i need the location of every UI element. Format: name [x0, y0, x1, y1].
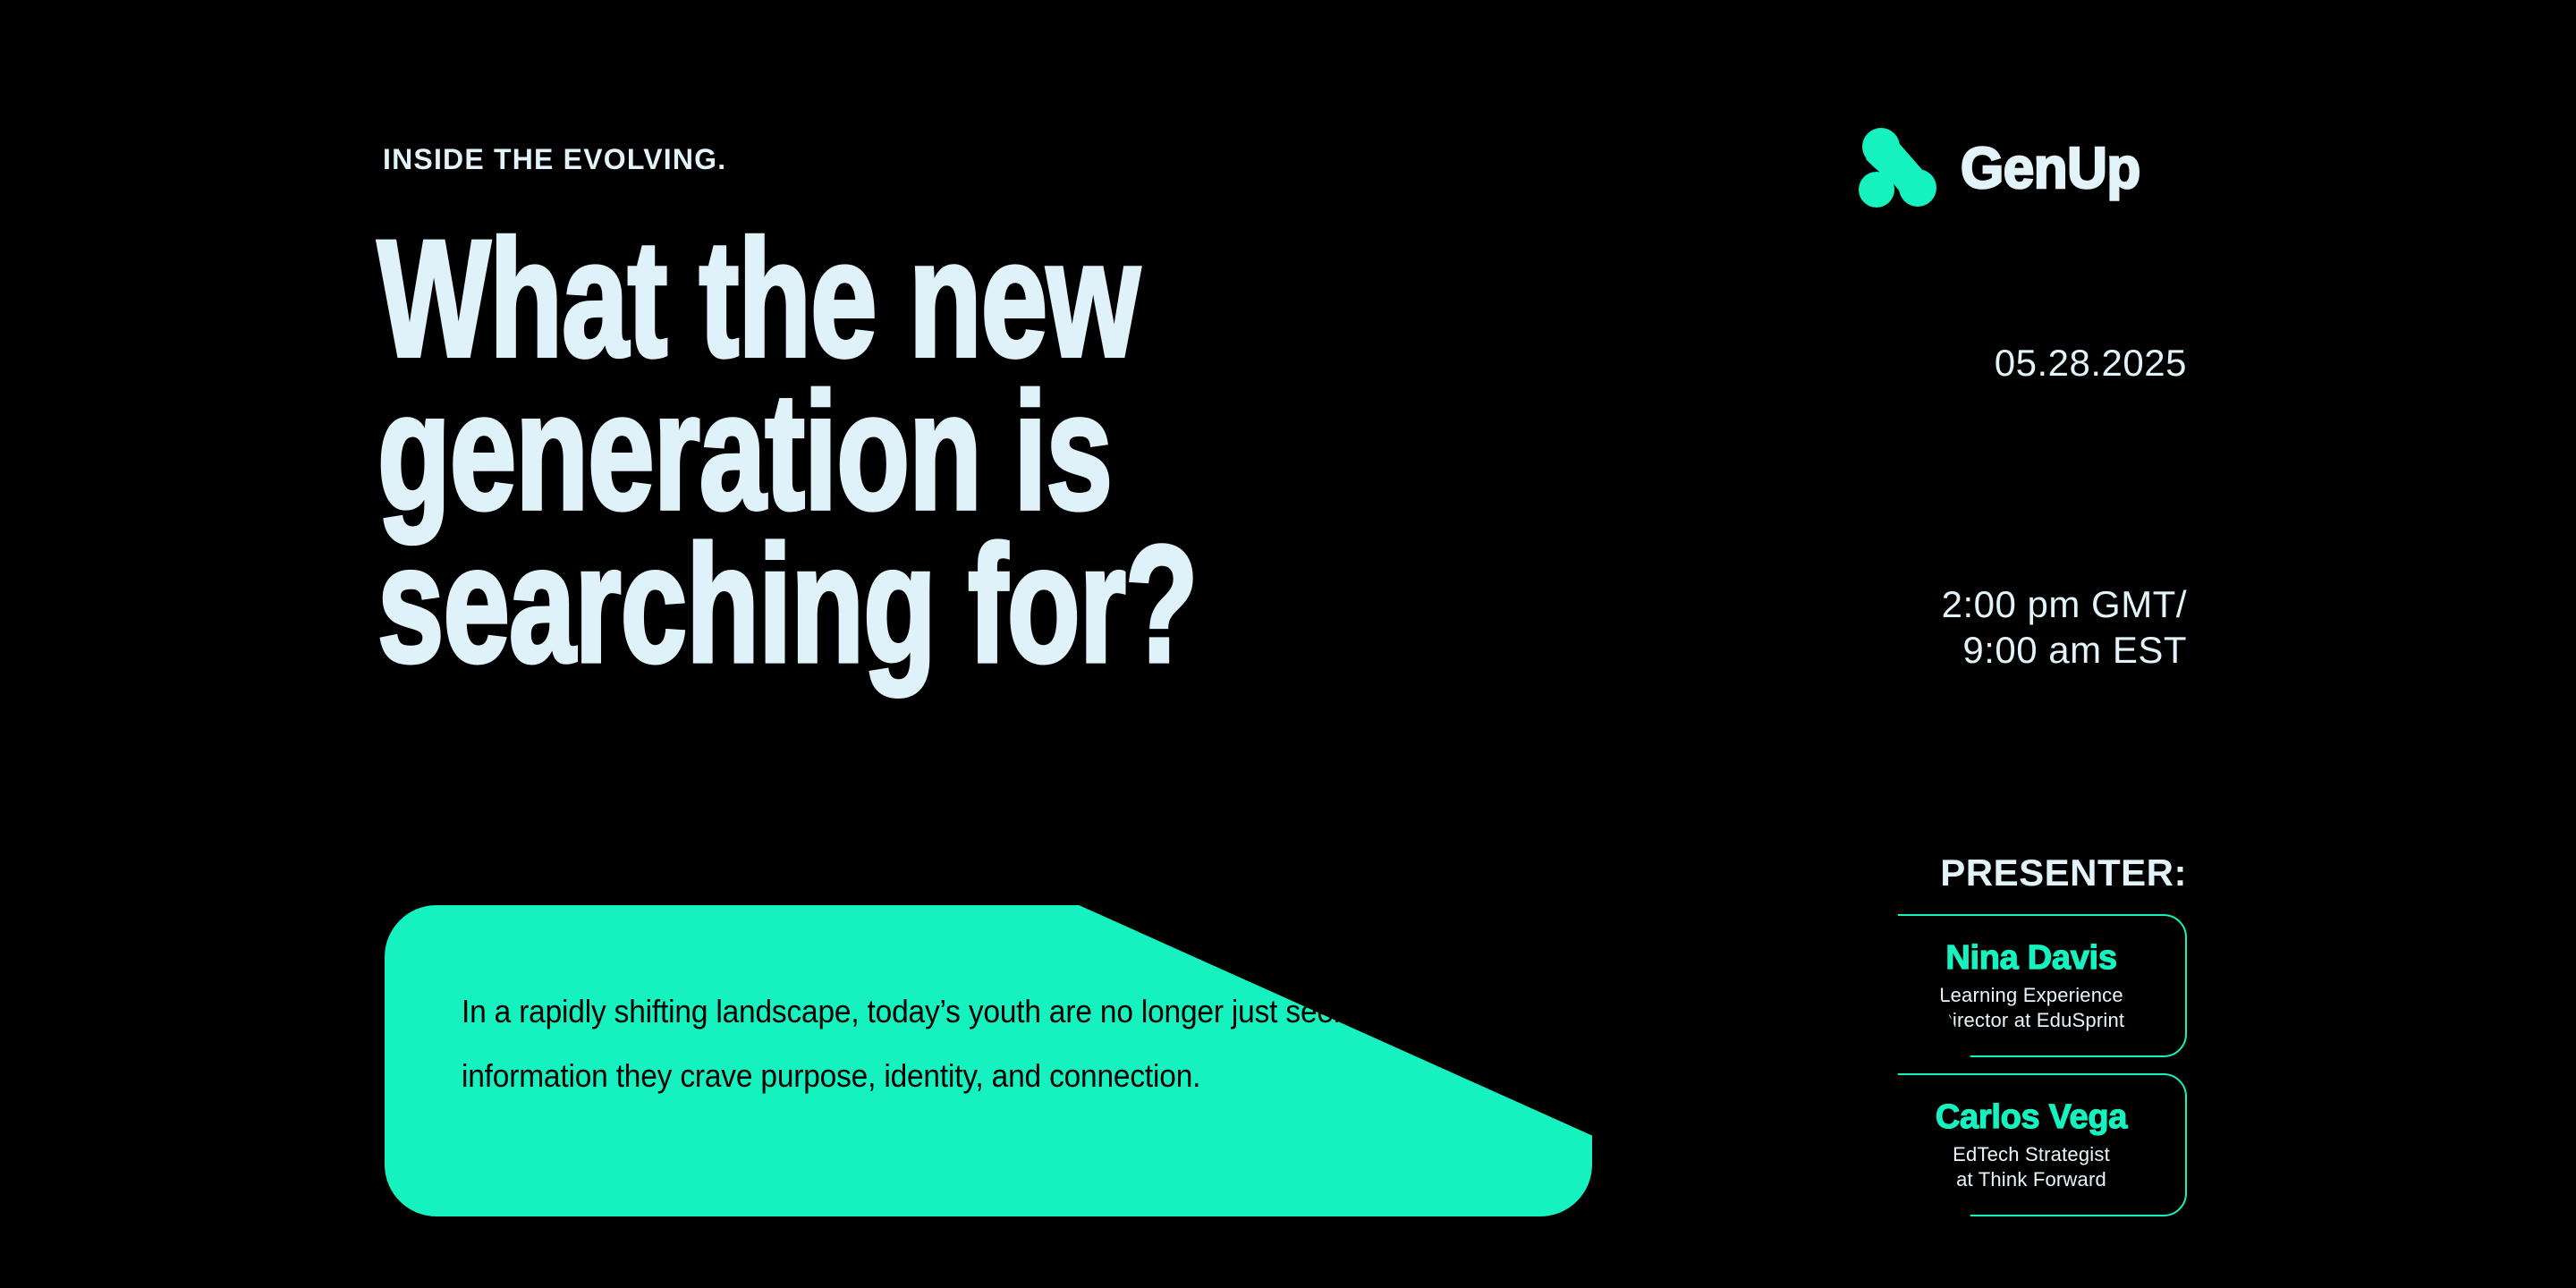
brand-wordmark: GenUp: [1961, 135, 2140, 202]
presenter-name: Nina Davis: [1945, 939, 2116, 978]
presenter-card[interactable]: Nina Davis Learning Experience Director …: [1838, 914, 2187, 1057]
presenter-role: Learning Experience Director at EduSprin…: [1938, 983, 2124, 1032]
event-date: 05.28.2025: [1995, 342, 2187, 385]
brand-logo[interactable]: GenUp: [1853, 119, 2193, 217]
page-title: What the new generation is searching for…: [377, 224, 1527, 682]
presenter-name: Carlos Vega: [1936, 1098, 2127, 1137]
three-node-connection-icon: [1853, 123, 1943, 213]
presenter-label: PRESENTER:: [1940, 852, 2187, 894]
presenter-role: EdTech Strategist at Think Forward: [1953, 1142, 2110, 1191]
event-time: 2:00 pm GMT/ 9:00 am EST: [1942, 581, 2187, 673]
blurb-text: In a rapidly shifting landscape, today’s…: [462, 979, 1443, 1108]
presenter-card[interactable]: Carlos Vega EdTech Strategist at Think F…: [1838, 1073, 2187, 1216]
eyebrow-text: INSIDE THE EVOLVING.: [383, 143, 726, 176]
